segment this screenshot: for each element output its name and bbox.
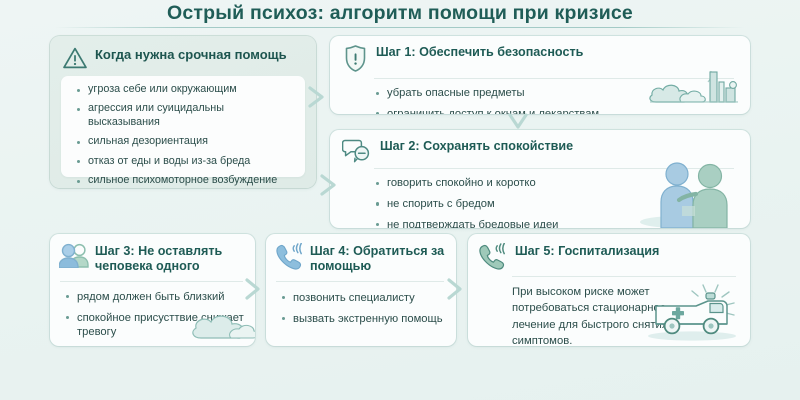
step-1-card: Шаг 1: Обеспечить безопасность убрать оп…	[330, 36, 750, 114]
arrow-warning-to-step1	[304, 84, 330, 110]
list-item: сильное психомоторное возбуждение	[77, 174, 297, 188]
phone-ringing-green-icon	[478, 242, 507, 270]
step-4-header: Шаг 4: Обратиться за помощью	[266, 234, 456, 279]
step-2-list: говорить спокойно и коротко не спорить с…	[330, 169, 750, 228]
list-item: не спорить с бредом	[376, 197, 740, 211]
list-item: убрать опасные предметы	[376, 86, 740, 100]
step-2-title: Шаг 2: Сохранять спокойствие	[380, 137, 573, 154]
list-item: угроза себе или окружающим	[77, 83, 297, 97]
list-item: спокойное присусттвие снижает тревогу	[66, 311, 247, 340]
step-1-list: убрать опасные предметы ограничить досту…	[330, 79, 750, 114]
arrow-step1-to-step2	[506, 112, 530, 132]
step-4-card: Шаг 4: Обратиться за помощью позвонить с…	[266, 234, 456, 346]
list-item: рядом должен быть близкий	[66, 290, 247, 304]
list-item: сильная дезориентация	[77, 135, 297, 149]
step-1-header: Шаг 1: Обеспечить безопасность	[330, 36, 750, 78]
list-item: отказ от еды и воды из-за бреда	[77, 155, 297, 169]
list-item: агрессия или суицидальны высказывания	[77, 102, 297, 130]
phone-ringing-blue-icon	[275, 242, 304, 270]
warning-triangle-icon	[62, 45, 88, 70]
step-4-title: Шаг 4: Обратиться за помощью	[310, 242, 448, 274]
list-item: вызвать экстренную помощь	[282, 312, 450, 326]
step-5-header: Шаг 5: Госпитализация	[468, 234, 750, 274]
step-5-paragraph: При высоком риске может потребоваться ст…	[468, 277, 750, 346]
infographic-canvas: Острый психоз: алгоритм помощи при кризи…	[0, 0, 800, 400]
step-1-title: Шаг 1: Обеспечить безопасность	[376, 43, 583, 60]
list-item: позвонить специалисту	[282, 291, 450, 305]
list-item: не подтверждать бредовые идеи	[376, 218, 740, 228]
list-item: ограничить доступ к окнам и лекарствам	[376, 107, 740, 114]
list-item: говорить спокойно и коротко	[376, 176, 740, 190]
warning-card-title: Когда нужна срочная помощь	[95, 45, 287, 62]
arrow-step3-to-step4	[241, 277, 265, 301]
step-2-header: Шаг 2: Сохранять спокойствие	[330, 130, 750, 168]
step-3-header: Шаг 3: Не оставлять чеповека одного	[50, 234, 255, 279]
step-5-title: Шаг 5: Госпитализация	[515, 242, 659, 259]
arrow-step4-to-step5	[443, 277, 467, 301]
step-2-card: Шаг 2: Сохранять спокойствие говорить сп…	[330, 130, 750, 228]
warning-card: Когда нужна срочная помощь угроза себе и…	[50, 36, 316, 188]
arrow-warning-to-step2	[316, 172, 342, 198]
shield-exclamation-icon	[342, 43, 369, 73]
step-5-card: Шаг 5: Госпитализация При высоком риске …	[468, 234, 750, 346]
step-3-list: рядом должен быть близкий спокойное прис…	[50, 282, 255, 346]
speech-bubbles-icon	[342, 137, 373, 163]
title-divider	[55, 27, 745, 28]
step-3-title: Шаг 3: Не оставлять чеповека одного	[95, 242, 247, 274]
warning-list: угроза себе или окружающим агрессия или …	[61, 76, 305, 188]
warning-list-panel: угроза себе или окружающим агрессия или …	[61, 76, 305, 177]
warning-card-header: Когда нужна срочная помощь	[50, 36, 316, 77]
step-4-list: позвонить специалисту вызвать экстренную…	[266, 282, 456, 334]
page-title: Острый психоз: алгоритм помощи при кризи…	[0, 2, 800, 25]
step-3-card: Шаг 3: Не оставлять чеповека одного рядо…	[50, 234, 255, 346]
two-persons-icon	[59, 242, 89, 268]
